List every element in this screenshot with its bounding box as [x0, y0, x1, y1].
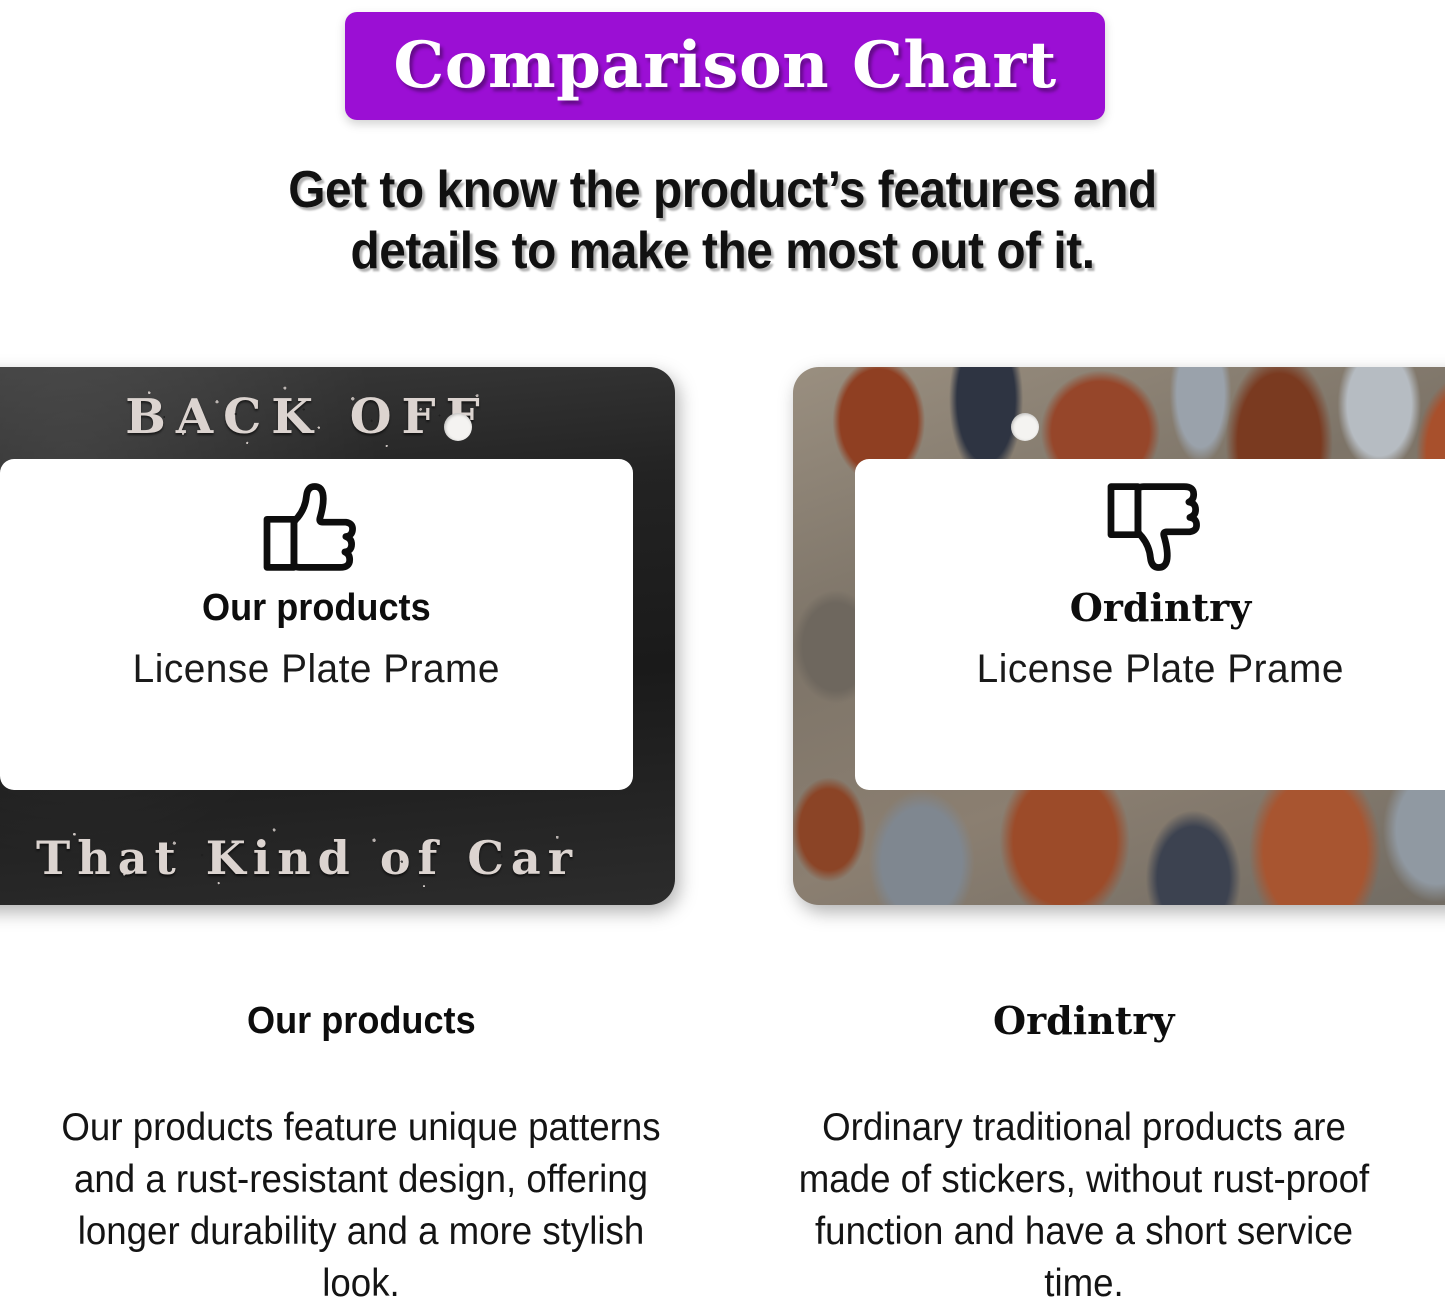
product-frame-ours: BACK OFF That Kind of Car Our products L… — [0, 367, 675, 905]
page-title: Comparison Chart — [393, 34, 1056, 98]
description-column-theirs: Ordintry Ordinary traditional products a… — [723, 990, 1445, 1314]
column-title-theirs: Ordintry — [993, 1002, 1174, 1040]
card-subheading-ours: License Plate Prame — [133, 649, 500, 689]
plate-window-content-theirs: Ordintry License Plate Prame — [855, 459, 1445, 790]
comparison-chart-page: Comparison Chart Get to know the product… — [0, 0, 1445, 1314]
thumbs-down-icon — [1102, 477, 1220, 577]
column-body-theirs: Ordinary traditional products are made o… — [783, 1102, 1385, 1309]
description-columns: Our products Our products feature unique… — [0, 990, 1445, 1314]
thumbs-up-icon — [258, 477, 376, 577]
page-subtitle: Get to know the product’s features and d… — [58, 160, 1387, 283]
column-body-ours: Our products feature unique patterns and… — [60, 1102, 662, 1309]
product-frame-theirs: Ordintry License Plate Prame — [793, 367, 1445, 905]
screw-hole-theirs — [1011, 413, 1039, 441]
column-title-ours: Our products — [247, 1002, 476, 1040]
description-column-ours: Our products Our products feature unique… — [0, 990, 723, 1314]
plate-window-content-ours: Our products License Plate Prame — [0, 459, 633, 790]
card-heading-theirs: Ordintry — [1070, 589, 1251, 627]
subtitle-line-1: Get to know the product’s features and — [58, 160, 1387, 221]
card-heading-ours: Our products — [202, 589, 431, 627]
screw-hole-ours — [444, 413, 472, 441]
frames-row: BACK OFF That Kind of Car Our products L… — [0, 367, 1445, 905]
title-banner: Comparison Chart — [345, 12, 1105, 120]
subtitle-line-2: details to make the most out of it. — [58, 221, 1387, 282]
card-subheading-theirs: License Plate Prame — [977, 649, 1344, 689]
